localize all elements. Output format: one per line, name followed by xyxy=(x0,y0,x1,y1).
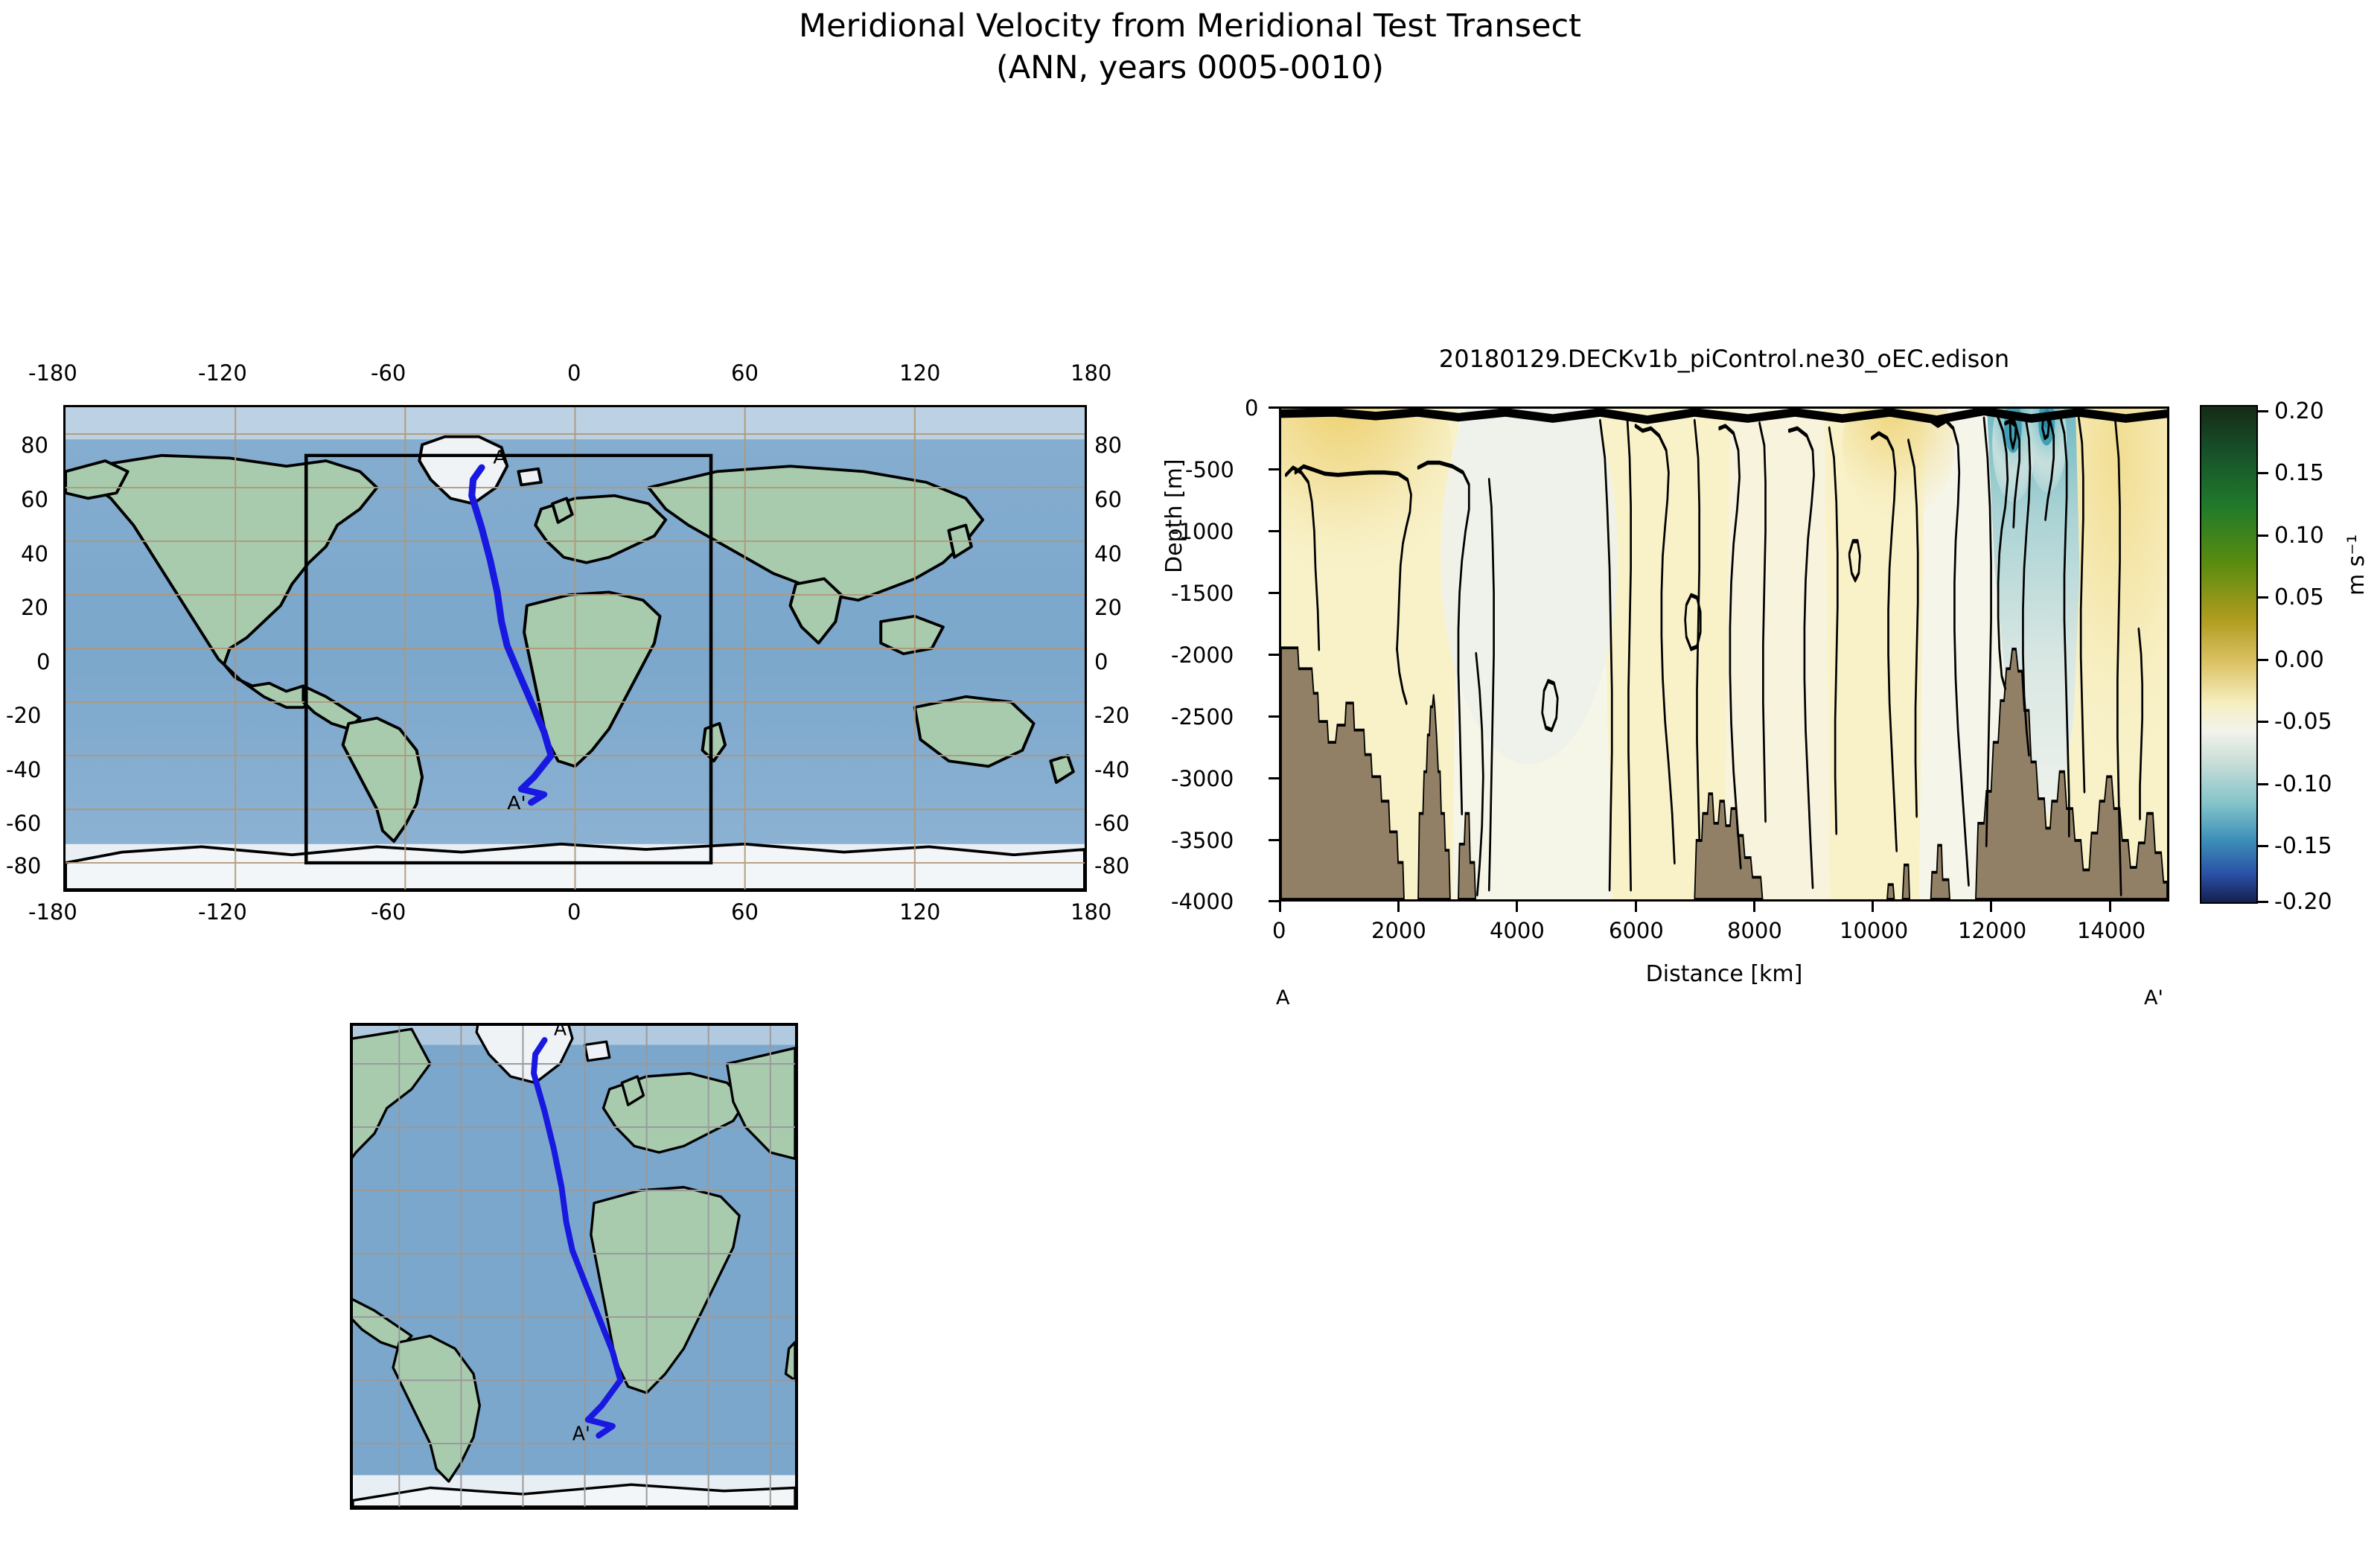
sec-ylabel-6: -3000 xyxy=(1171,766,1234,791)
sec-xlabel-3: 6000 xyxy=(1609,918,1664,943)
colorbar-unit-label: m s⁻¹ xyxy=(2344,535,2370,596)
cb-tick-8 xyxy=(2258,901,2268,903)
map-lon-tick-bot-6: 180 xyxy=(1071,899,1111,925)
sec-ytick-1 xyxy=(1269,468,1279,470)
sec-xlabel-5: 10000 xyxy=(1840,918,1908,943)
cb-label-7: -0.15 xyxy=(2274,833,2332,859)
sec-xtick-4 xyxy=(1753,902,1755,912)
figure-suptitle: Meridional Velocity from Meridional Test… xyxy=(0,6,2380,89)
section-plot-frame[interactable] xyxy=(1279,406,2169,902)
sec-xlabel-2: 4000 xyxy=(1490,918,1545,943)
cb-label-1: 0.15 xyxy=(2274,460,2324,486)
map-lon-tick-top-2: -60 xyxy=(371,360,406,386)
map-lat-tick-l-5: -20 xyxy=(6,703,41,728)
cb-tick-6 xyxy=(2258,783,2268,785)
sec-xtick-3 xyxy=(1635,902,1637,912)
map-lat-tick-r-8: -80 xyxy=(1094,853,1129,878)
inset-map-graphic: A A' xyxy=(353,1026,795,1507)
map-lat-tick-r-1: 60 xyxy=(1094,487,1122,512)
map-lon-tick-top-5: 120 xyxy=(899,360,940,386)
transect-start-label-map: A xyxy=(493,447,506,468)
map-lon-tick-bot-5: 120 xyxy=(899,899,940,925)
map-lon-tick-top-0: -180 xyxy=(28,360,77,386)
sec-ylabel-8: -4000 xyxy=(1171,889,1234,914)
map-lon-tick-bot-3: 0 xyxy=(567,899,581,925)
map-lon-tick-top-6: 180 xyxy=(1071,360,1111,386)
sec-xlabel-4: 8000 xyxy=(1727,918,1782,943)
cb-tick-5 xyxy=(2258,721,2268,723)
world-map-frame[interactable]: A A' xyxy=(63,405,1087,892)
sec-xlabel-6: 12000 xyxy=(1958,918,2026,943)
map-lat-tick-r-2: 40 xyxy=(1094,541,1122,567)
transect-end-label-inset: A' xyxy=(572,1423,590,1444)
cb-tick-2 xyxy=(2258,535,2268,537)
map-lon-tick-top-3: 0 xyxy=(567,360,581,386)
map-lat-tick-l-6: -40 xyxy=(6,757,41,782)
map-lat-tick-r-5: -20 xyxy=(1094,703,1129,728)
sec-xtick-6 xyxy=(1990,902,1992,912)
velocity-colorbar[interactable] xyxy=(2200,405,2258,904)
cb-tick-7 xyxy=(2258,845,2268,847)
cb-label-5: -0.05 xyxy=(2274,709,2332,735)
cb-label-8: -0.20 xyxy=(2274,889,2332,915)
sec-ylabel-7: -3500 xyxy=(1171,828,1234,853)
sec-xtick-7 xyxy=(2109,902,2111,912)
map-lat-tick-l-7: -60 xyxy=(6,811,41,836)
sec-xtick-1 xyxy=(1397,902,1400,912)
cb-label-4: 0.00 xyxy=(2274,647,2324,673)
section-endpoint-a: A xyxy=(1276,986,1289,1009)
sec-ytick-7 xyxy=(1269,839,1279,841)
map-lat-tick-r-4: 0 xyxy=(1094,649,1108,674)
map-lat-tick-r-7: -60 xyxy=(1094,811,1129,836)
sec-ytick-4 xyxy=(1269,654,1279,656)
sec-ylabel-4: -2000 xyxy=(1171,642,1234,668)
sec-ytick-5 xyxy=(1269,715,1279,718)
inset-map-frame[interactable]: A A' xyxy=(350,1023,798,1510)
cb-label-3: 0.05 xyxy=(2274,584,2324,610)
suptitle-line-1: Meridional Velocity from Meridional Test… xyxy=(799,7,1581,45)
world-map-panel: A A' xyxy=(63,405,1087,892)
sec-ytick-3 xyxy=(1269,592,1279,594)
map-lon-tick-bot-0: -180 xyxy=(28,899,77,925)
sec-ylabel-3: -1500 xyxy=(1171,581,1234,606)
sec-ytick-8 xyxy=(1269,900,1279,902)
map-lon-tick-bot-2: -60 xyxy=(371,899,406,925)
sec-xtick-0 xyxy=(1279,902,1281,912)
transect-end-label-map: A' xyxy=(507,793,526,814)
map-lat-tick-l-3: 20 xyxy=(21,595,48,620)
sec-ylabel-1: -500 xyxy=(1185,457,1234,482)
cb-label-2: 0.10 xyxy=(2274,523,2324,549)
suptitle-line-2: (ANN, years 0005-0010) xyxy=(0,48,2380,89)
cb-label-6: -0.10 xyxy=(2274,771,2332,797)
cb-tick-3 xyxy=(2258,596,2268,599)
map-lat-tick-l-0: 80 xyxy=(21,433,48,458)
map-lat-tick-r-0: 80 xyxy=(1094,433,1122,458)
cb-tick-1 xyxy=(2258,472,2268,474)
sec-ylabel-5: -2500 xyxy=(1171,704,1234,730)
section-x-axis-title: Distance [km] xyxy=(1279,961,2169,987)
world-map-graphic: A A' xyxy=(66,407,1085,890)
sec-ytick-2 xyxy=(1269,530,1279,532)
map-lat-tick-l-8: -80 xyxy=(6,853,41,878)
sec-ylabel-0: 0 xyxy=(1245,395,1258,421)
cb-label-0: 0.20 xyxy=(2274,398,2324,424)
sec-xtick-5 xyxy=(1872,902,1874,912)
map-lon-tick-bot-4: 60 xyxy=(731,899,759,925)
map-lon-tick-top-4: 60 xyxy=(731,360,759,386)
map-lat-tick-l-2: 40 xyxy=(21,541,48,567)
sec-ytick-6 xyxy=(1269,777,1279,779)
map-lat-tick-r-6: -40 xyxy=(1094,757,1129,782)
cb-tick-0 xyxy=(2258,410,2268,412)
map-lon-tick-top-1: -120 xyxy=(198,360,247,386)
section-endpoint-aprime: A' xyxy=(2144,986,2163,1009)
sec-xtick-2 xyxy=(1516,902,1518,912)
map-lat-tick-r-3: 20 xyxy=(1094,595,1122,620)
map-lon-tick-bot-1: -120 xyxy=(198,899,247,925)
sec-xlabel-0: 0 xyxy=(1272,918,1286,943)
map-lat-tick-l-4: 0 xyxy=(36,649,50,674)
sec-xlabel-7: 14000 xyxy=(2077,918,2145,943)
cb-tick-4 xyxy=(2258,659,2268,661)
transect-start-label-inset: A xyxy=(554,1026,567,1040)
map-lat-tick-l-1: 60 xyxy=(21,487,48,512)
section-plot-title: 20180129.DECKv1b_piControl.ne30_oEC.edis… xyxy=(1279,345,2169,373)
figure-canvas: Meridional Velocity from Meridional Test… xyxy=(0,0,2380,1544)
section-y-axis-title: Depth [m] xyxy=(1161,459,1187,573)
sec-xlabel-1: 2000 xyxy=(1371,918,1426,943)
inset-map-panel: A A' xyxy=(350,1023,798,1510)
velocity-section-graphic xyxy=(1281,409,2167,899)
sec-ytick-0 xyxy=(1269,406,1279,409)
section-plot-panel xyxy=(1279,406,2169,902)
